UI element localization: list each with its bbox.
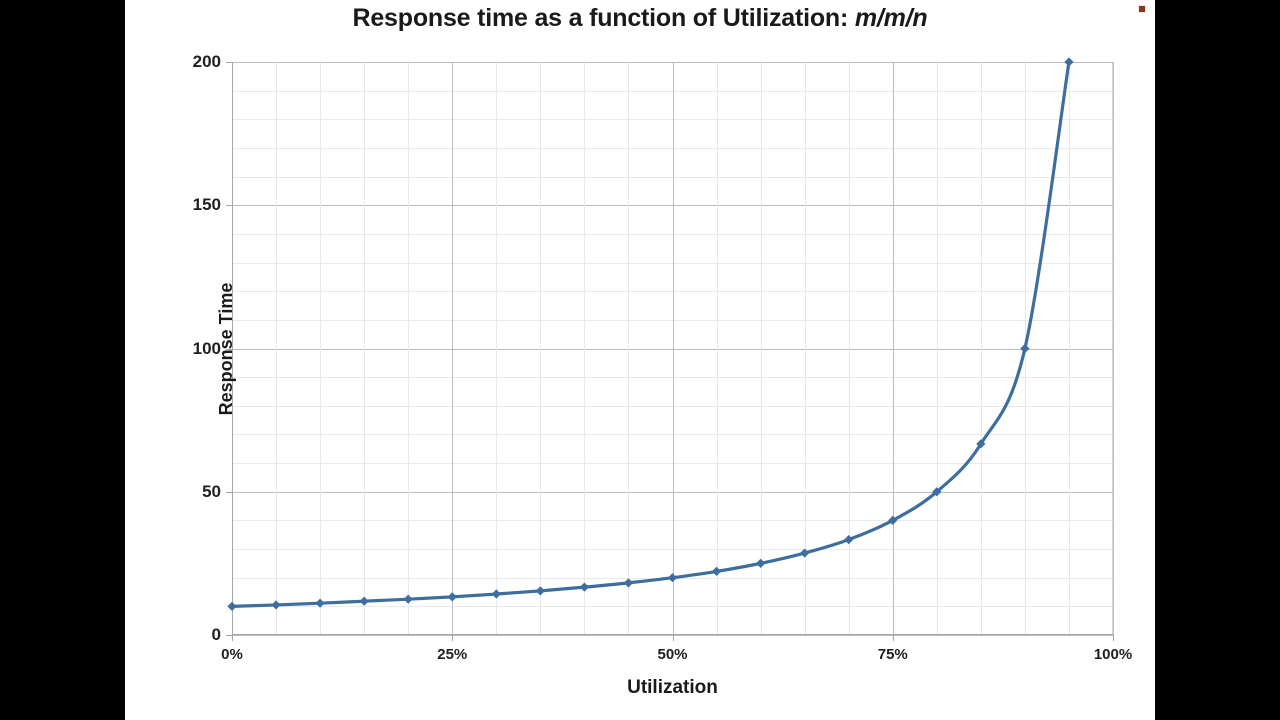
chart-title-main: Response time as a function of Utilizati…: [353, 4, 855, 32]
series-line: [232, 62, 1113, 635]
y-tick-label: 150: [193, 195, 221, 215]
data-point-marker: [271, 600, 280, 609]
data-point-marker: [360, 597, 369, 606]
x-tick: [232, 635, 233, 641]
slide-stage: Response time as a function of Utilizati…: [0, 0, 1280, 720]
x-tick: [452, 635, 453, 641]
series-path: [232, 62, 1069, 606]
y-tick-label: 200: [193, 52, 221, 72]
data-point-marker: [580, 583, 589, 592]
data-point-marker: [227, 602, 236, 611]
data-point-marker: [448, 592, 457, 601]
data-point-marker: [492, 589, 501, 598]
x-tick-label: 0%: [221, 646, 243, 663]
x-tick-label: 100%: [1094, 646, 1132, 663]
line-chart: 050100150200 0%25%50%75%100% Response Ti…: [232, 62, 1113, 635]
x-tick: [1113, 635, 1114, 641]
x-tick-label: 50%: [657, 646, 687, 663]
x-tick-label: 25%: [437, 646, 467, 663]
chart-title: Response time as a function of Utilizati…: [125, 4, 1155, 33]
data-point-marker: [404, 595, 413, 604]
data-point-marker: [756, 559, 765, 568]
x-tick-label: 75%: [878, 646, 908, 663]
gridline-x-major: [1113, 62, 1114, 635]
data-point-marker: [1020, 344, 1029, 353]
data-point-marker: [536, 586, 545, 595]
red-square-artifact: [1138, 5, 1146, 13]
data-point-marker: [712, 567, 721, 576]
x-tick: [673, 635, 674, 641]
data-point-marker: [844, 535, 853, 544]
data-point-marker: [1064, 57, 1073, 66]
y-tick-label: 0: [212, 625, 221, 645]
slide-canvas: Response time as a function of Utilizati…: [125, 0, 1155, 720]
data-point-marker: [800, 548, 809, 557]
y-tick-label: 50: [202, 482, 221, 502]
x-tick: [893, 635, 894, 641]
chart-title-italic: m/m/n: [855, 4, 928, 32]
x-axis-title: Utilization: [627, 677, 718, 699]
data-point-marker: [316, 599, 325, 608]
data-point-marker: [668, 573, 677, 582]
y-axis-title: Response Time: [216, 282, 237, 415]
data-point-marker: [624, 578, 633, 587]
